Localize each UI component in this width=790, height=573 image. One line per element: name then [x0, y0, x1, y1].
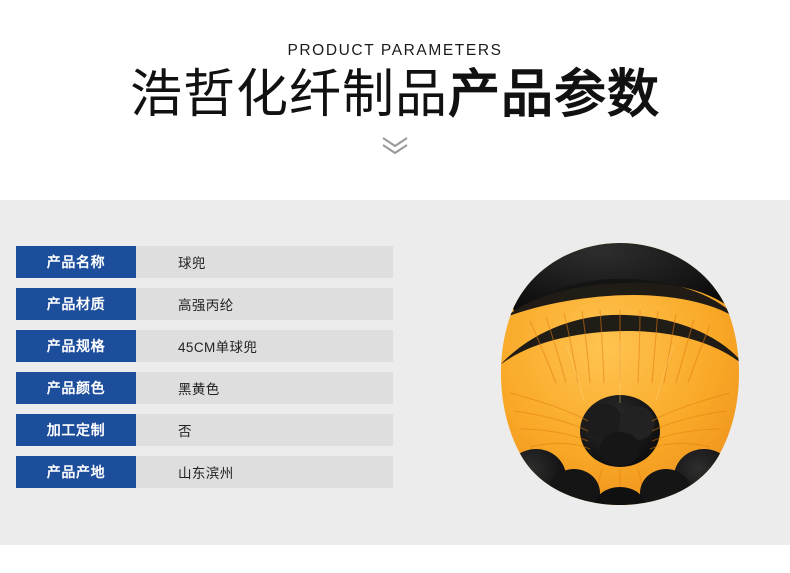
table-row: 产品颜色 黑黄色	[16, 372, 393, 404]
table-row: 产品产地 山东滨州	[16, 456, 393, 488]
spec-value-cell: 山东滨州	[136, 456, 393, 488]
spec-label-cell: 产品规格	[16, 330, 136, 362]
spec-value-cell: 45CM单球兜	[136, 330, 393, 362]
product-spec-table: 产品名称 球兜 产品材质 高强丙纶 产品规格 45CM单球兜 产品颜色 黑黄色 …	[16, 246, 393, 488]
double-chevron-down-icon	[378, 134, 412, 156]
table-row: 产品材质 高强丙纶	[16, 288, 393, 320]
page-header: PRODUCT PARAMETERS 浩哲化纤制品产品参数	[0, 0, 790, 200]
spec-value-cell: 球兜	[136, 246, 393, 278]
product-photo	[470, 225, 770, 515]
spec-label-cell: 产品名称	[16, 246, 136, 278]
spec-label-cell: 产品产地	[16, 456, 136, 488]
spec-value-cell: 高强丙纶	[136, 288, 393, 320]
table-row: 产品规格 45CM单球兜	[16, 330, 393, 362]
table-row: 产品名称 球兜	[16, 246, 393, 278]
spec-label-cell: 产品颜色	[16, 372, 136, 404]
product-net-bag-image	[470, 225, 770, 515]
spec-label-cell: 产品材质	[16, 288, 136, 320]
spec-value-cell: 否	[136, 414, 393, 446]
eyebrow-text: PRODUCT PARAMETERS	[0, 40, 790, 62]
page-title: 浩哲化纤制品产品参数	[0, 64, 790, 139]
spec-label-cell: 加工定制	[16, 414, 136, 446]
table-row: 加工定制 否	[16, 414, 393, 446]
page-footer-spacer	[0, 545, 790, 573]
page-title-brand: 浩哲化纤制品	[130, 65, 448, 125]
spec-value-cell: 黑黄色	[136, 372, 393, 404]
page-title-emphasis: 产品参数	[448, 65, 660, 125]
title-divider	[0, 134, 790, 160]
